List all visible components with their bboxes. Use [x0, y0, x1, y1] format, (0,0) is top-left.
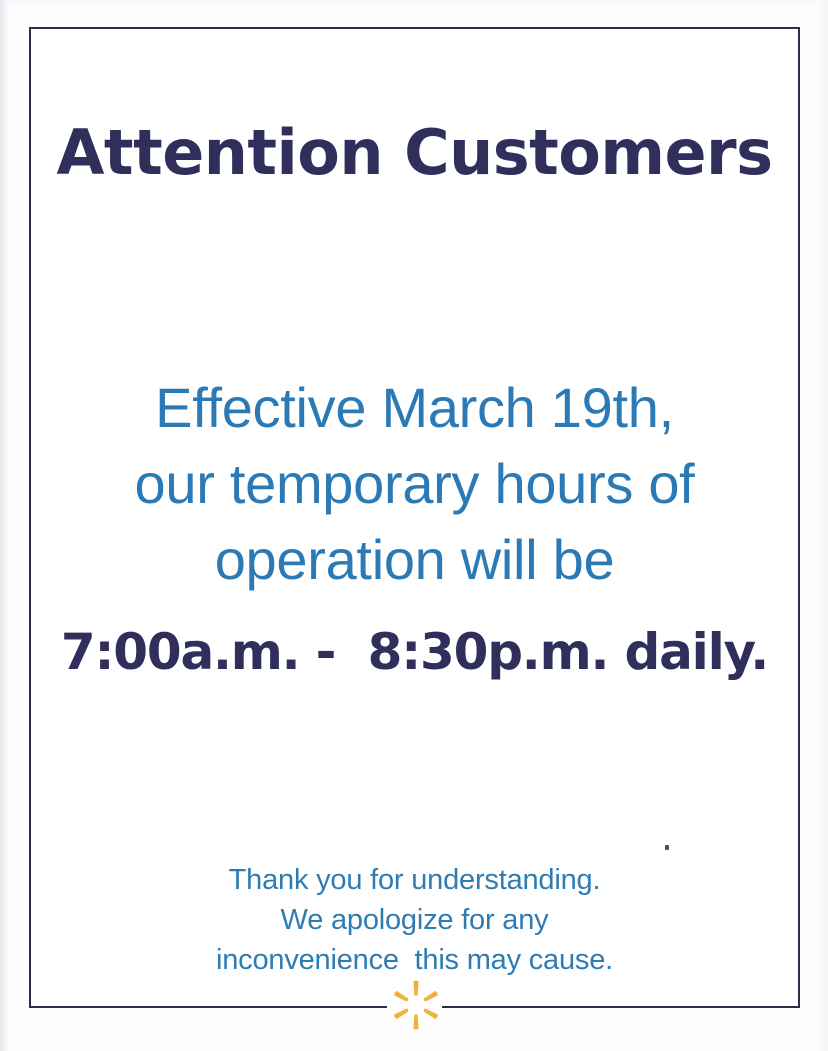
sign-body-text: Effective March 19th, our temporary hour… — [29, 370, 800, 598]
sign-bordered-frame: Attention Customers Effective March 19th… — [29, 27, 800, 1008]
body-line-1: Effective March 19th, — [29, 370, 800, 446]
walmart-spark-icon — [385, 974, 447, 1036]
sign-headline: Attention Customers — [29, 122, 800, 184]
sign-closing-text: Thank you for understanding. We apologiz… — [29, 860, 800, 980]
frame-border-bottom-right — [442, 1006, 800, 1008]
frame-border-top — [29, 27, 800, 29]
frame-border-bottom-left — [29, 1006, 387, 1008]
page-left-edge — [0, 0, 8, 1051]
store-hours-text: 7:00a.m. - 8:30p.m. daily. — [29, 627, 800, 677]
closing-line-1: Thank you for understanding. — [29, 860, 800, 900]
printed-sign-page: Attention Customers Effective March 19th… — [0, 0, 828, 1051]
body-line-2: our temporary hours of — [29, 446, 800, 522]
page-top-edge — [0, 0, 828, 6]
closing-line-2: We apologize for any — [29, 900, 800, 940]
print-speck-artifact — [665, 845, 669, 850]
page-right-edge — [818, 0, 828, 1051]
body-line-3: operation will be — [29, 522, 800, 598]
